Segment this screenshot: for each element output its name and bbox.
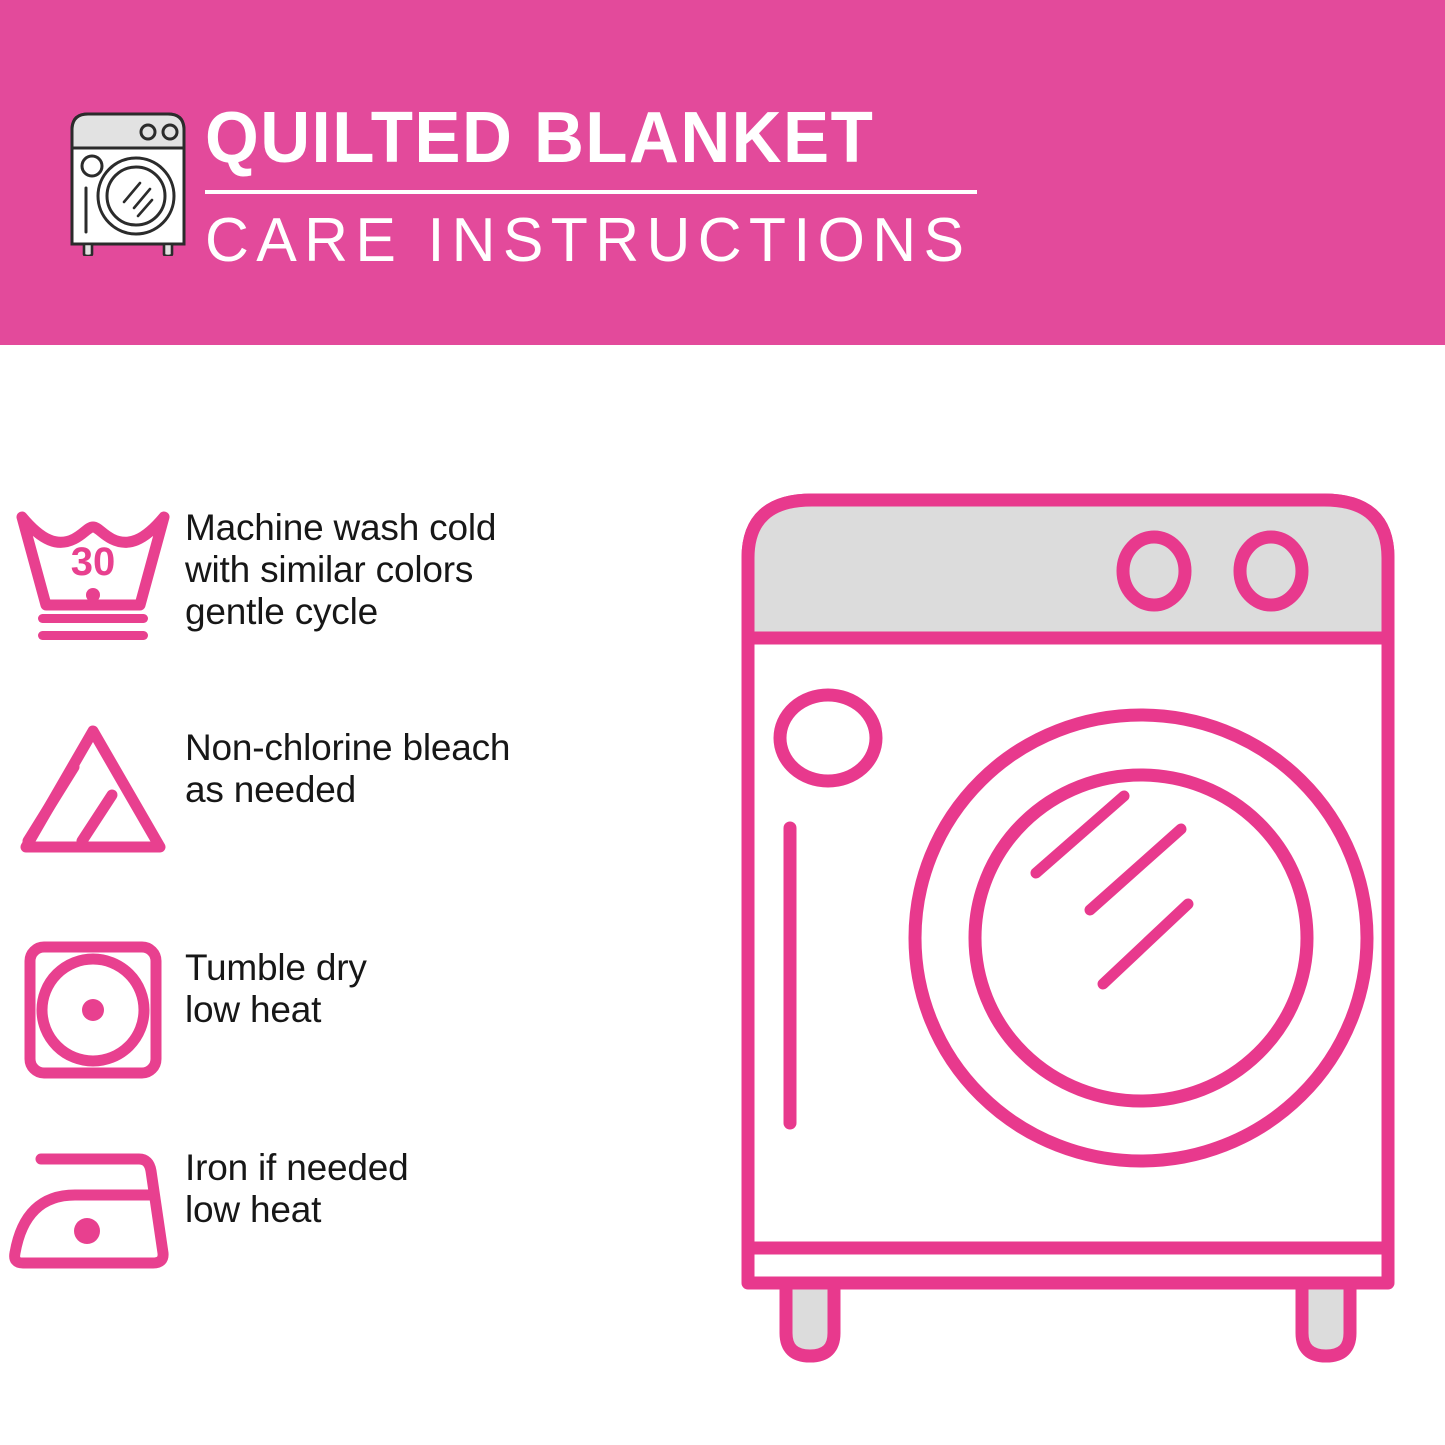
page-title: QUILTED BLANKET [205,100,963,176]
title-divider [205,190,977,194]
care-line: gentle cycle [185,591,496,633]
wash-temperature-label: 30 [70,540,115,584]
care-line: as needed [185,769,510,811]
care-row-tumble-dry: Tumble dry low heat [0,935,700,1084]
care-line: Non-chlorine bleach [185,727,510,769]
care-text-bleach: Non-chlorine bleach as needed [185,715,510,811]
care-row-machine-wash: 30 Machine wash cold with similar colors… [0,495,700,649]
large-washing-machine-illustration [718,478,1418,1368]
care-row-iron: Iron if needed low heat [0,1135,700,1289]
care-line: low heat [185,1189,408,1231]
care-instruction-list: 30 Machine wash cold with similar colors… [0,345,700,1445]
care-line: with similar colors [185,549,496,591]
care-line: Machine wash cold [185,507,496,549]
page-subtitle: CARE INSTRUCTIONS [205,206,979,276]
care-line: low heat [185,989,367,1031]
care-line: Iron if needed [185,1147,408,1189]
care-text-machine-wash: Machine wash cold with similar colors ge… [185,495,496,633]
care-text-iron: Iron if needed low heat [185,1135,408,1231]
care-instructions-page: QUILTED BLANKET CARE INSTRUCTIONS 30 Mac… [0,0,1445,1445]
header-title-block: QUILTED BLANKET CARE INSTRUCTIONS [205,100,995,276]
care-row-bleach: Non-chlorine bleach as needed [0,715,700,864]
washing-machine-icon [62,104,194,256]
care-text-tumble-dry: Tumble dry low heat [185,935,367,1031]
page-header: QUILTED BLANKET CARE INSTRUCTIONS [0,0,1445,345]
iron-low-heat-icon [0,1135,185,1289]
tumble-dry-low-icon [0,935,185,1084]
care-line: Tumble dry [185,947,367,989]
non-chlorine-bleach-triangle-icon [0,715,185,864]
wash-tub-30-gentle-icon: 30 [0,495,185,649]
